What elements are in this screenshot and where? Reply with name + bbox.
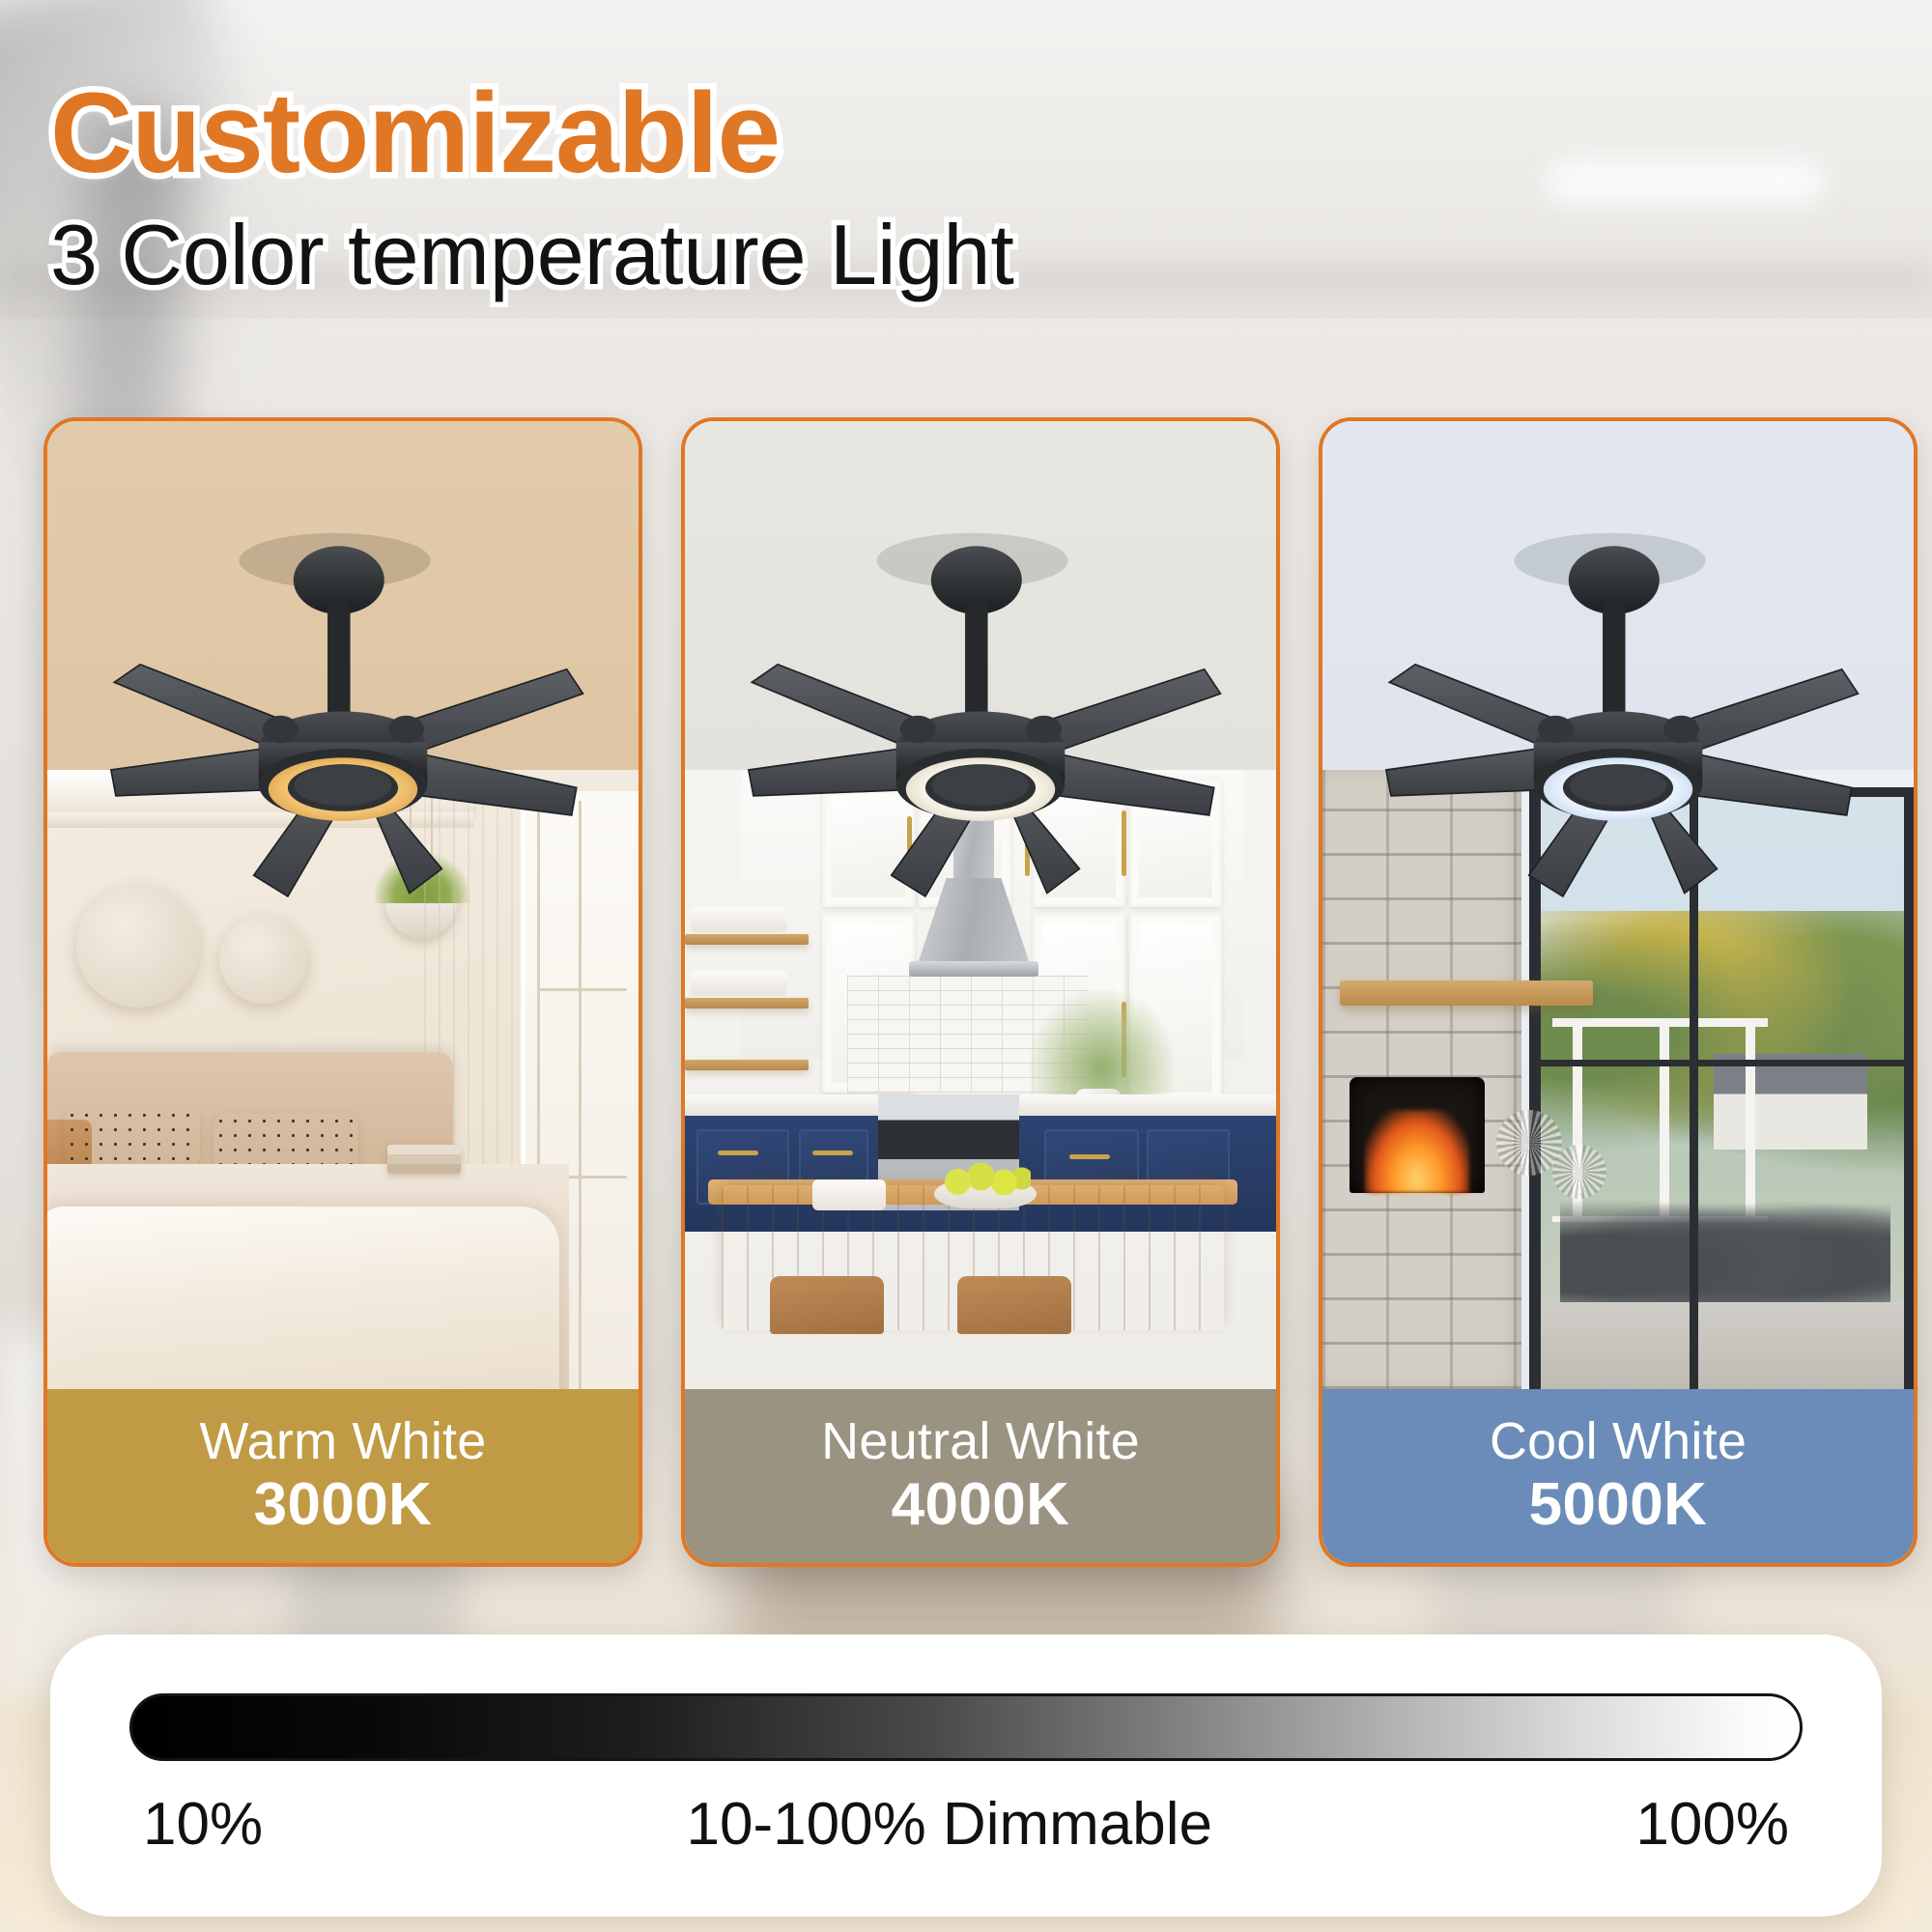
metal-wall-decor-small bbox=[1552, 1145, 1606, 1199]
range-hood-lip bbox=[909, 961, 1038, 977]
round-mirror-large bbox=[76, 884, 200, 1008]
stacked-books bbox=[387, 1145, 461, 1174]
bedroom-photo bbox=[47, 770, 639, 1389]
caption-name: Neutral White bbox=[821, 1412, 1140, 1470]
patio-photo bbox=[1322, 770, 1914, 1389]
page-subtitle: 3 Color temperature Light bbox=[50, 211, 1014, 299]
open-shelf-bottom bbox=[685, 1060, 809, 1070]
pillow-left bbox=[65, 1108, 200, 1168]
card-cool-white[interactable]: Cool White 5000K bbox=[1319, 417, 1918, 1567]
caption-cool-white: Cool White 5000K bbox=[1322, 1389, 1914, 1563]
window-header bbox=[1529, 787, 1914, 797]
base-handle-3 bbox=[1069, 1154, 1110, 1159]
wood-mantel bbox=[1340, 980, 1593, 1006]
coffee-mugs bbox=[812, 1179, 886, 1210]
window-mullion-left bbox=[1529, 770, 1541, 1389]
caption-warm-white: Warm White 3000K bbox=[47, 1389, 639, 1563]
card-neutral-white[interactable]: Neutral White 4000K bbox=[681, 417, 1280, 1567]
open-shelf-middle bbox=[685, 998, 809, 1009]
window-mullion-mid bbox=[1690, 787, 1698, 1389]
shelf-dishware-middle bbox=[691, 971, 787, 996]
scene-neutral-white bbox=[685, 421, 1276, 1389]
base-handle-2 bbox=[812, 1151, 853, 1155]
cabinet-handle-1 bbox=[907, 816, 912, 876]
hanging-planter-rope bbox=[410, 797, 412, 857]
patio-furniture bbox=[1560, 1185, 1890, 1317]
cabinet-door-1 bbox=[822, 785, 915, 907]
page-title: Customizable bbox=[50, 75, 1014, 191]
dimmer-max-label: 100% bbox=[1635, 1790, 1789, 1859]
caption-temperature: 3000K bbox=[254, 1471, 433, 1540]
window-mullion-right bbox=[1904, 787, 1914, 1389]
fire-flames bbox=[1365, 1110, 1469, 1193]
card-warm-white[interactable]: Warm White 3000K bbox=[43, 417, 642, 1567]
dimmer-gradient-bar[interactable] bbox=[129, 1693, 1803, 1761]
caption-name: Cool White bbox=[1490, 1412, 1747, 1470]
dimmer-labels: 10% 10-100% Dimmable 100% bbox=[143, 1790, 1789, 1859]
caption-temperature: 5000K bbox=[1529, 1471, 1708, 1540]
leather-stool-left bbox=[770, 1276, 884, 1334]
cabinet-door-4 bbox=[1129, 778, 1222, 907]
patio-window-glass bbox=[1529, 791, 1914, 1389]
lemons bbox=[942, 1162, 1031, 1195]
flower-arrangement bbox=[1029, 990, 1174, 1102]
kitchen-photo bbox=[685, 770, 1276, 1389]
bed-duvet bbox=[47, 1207, 559, 1389]
dimmer-center-label: 10-100% Dimmable bbox=[687, 1790, 1212, 1859]
cabinet-door-3 bbox=[1033, 778, 1125, 907]
caption-temperature: 4000K bbox=[892, 1471, 1070, 1540]
round-mirror-small bbox=[219, 915, 308, 1004]
cabinet-handle-2 bbox=[1025, 810, 1030, 876]
heading-block: Customizable 3 Color temperature Light bbox=[50, 75, 1014, 300]
dimmer-min-label: 10% bbox=[143, 1790, 263, 1859]
base-handle-1 bbox=[718, 1151, 758, 1155]
color-temperature-card-row: Warm White 3000K bbox=[43, 417, 1918, 1567]
caption-name: Warm White bbox=[200, 1412, 487, 1470]
open-shelf-top bbox=[685, 934, 809, 945]
scene-warm-white bbox=[47, 421, 639, 1389]
shelf-dishware-top bbox=[691, 907, 787, 932]
background-ceiling-light bbox=[1546, 159, 1826, 204]
leather-stool-right bbox=[957, 1276, 1071, 1334]
scene-cool-white bbox=[1322, 421, 1914, 1389]
cabinet-handle-3 bbox=[1122, 810, 1126, 876]
window-transom-rail bbox=[1529, 1060, 1914, 1066]
caption-neutral-white: Neutral White 4000K bbox=[685, 1389, 1276, 1563]
patio-floor bbox=[1529, 1302, 1914, 1389]
dimmer-panel: 10% 10-100% Dimmable 100% bbox=[50, 1634, 1882, 1917]
range-hood-stack bbox=[953, 793, 994, 884]
